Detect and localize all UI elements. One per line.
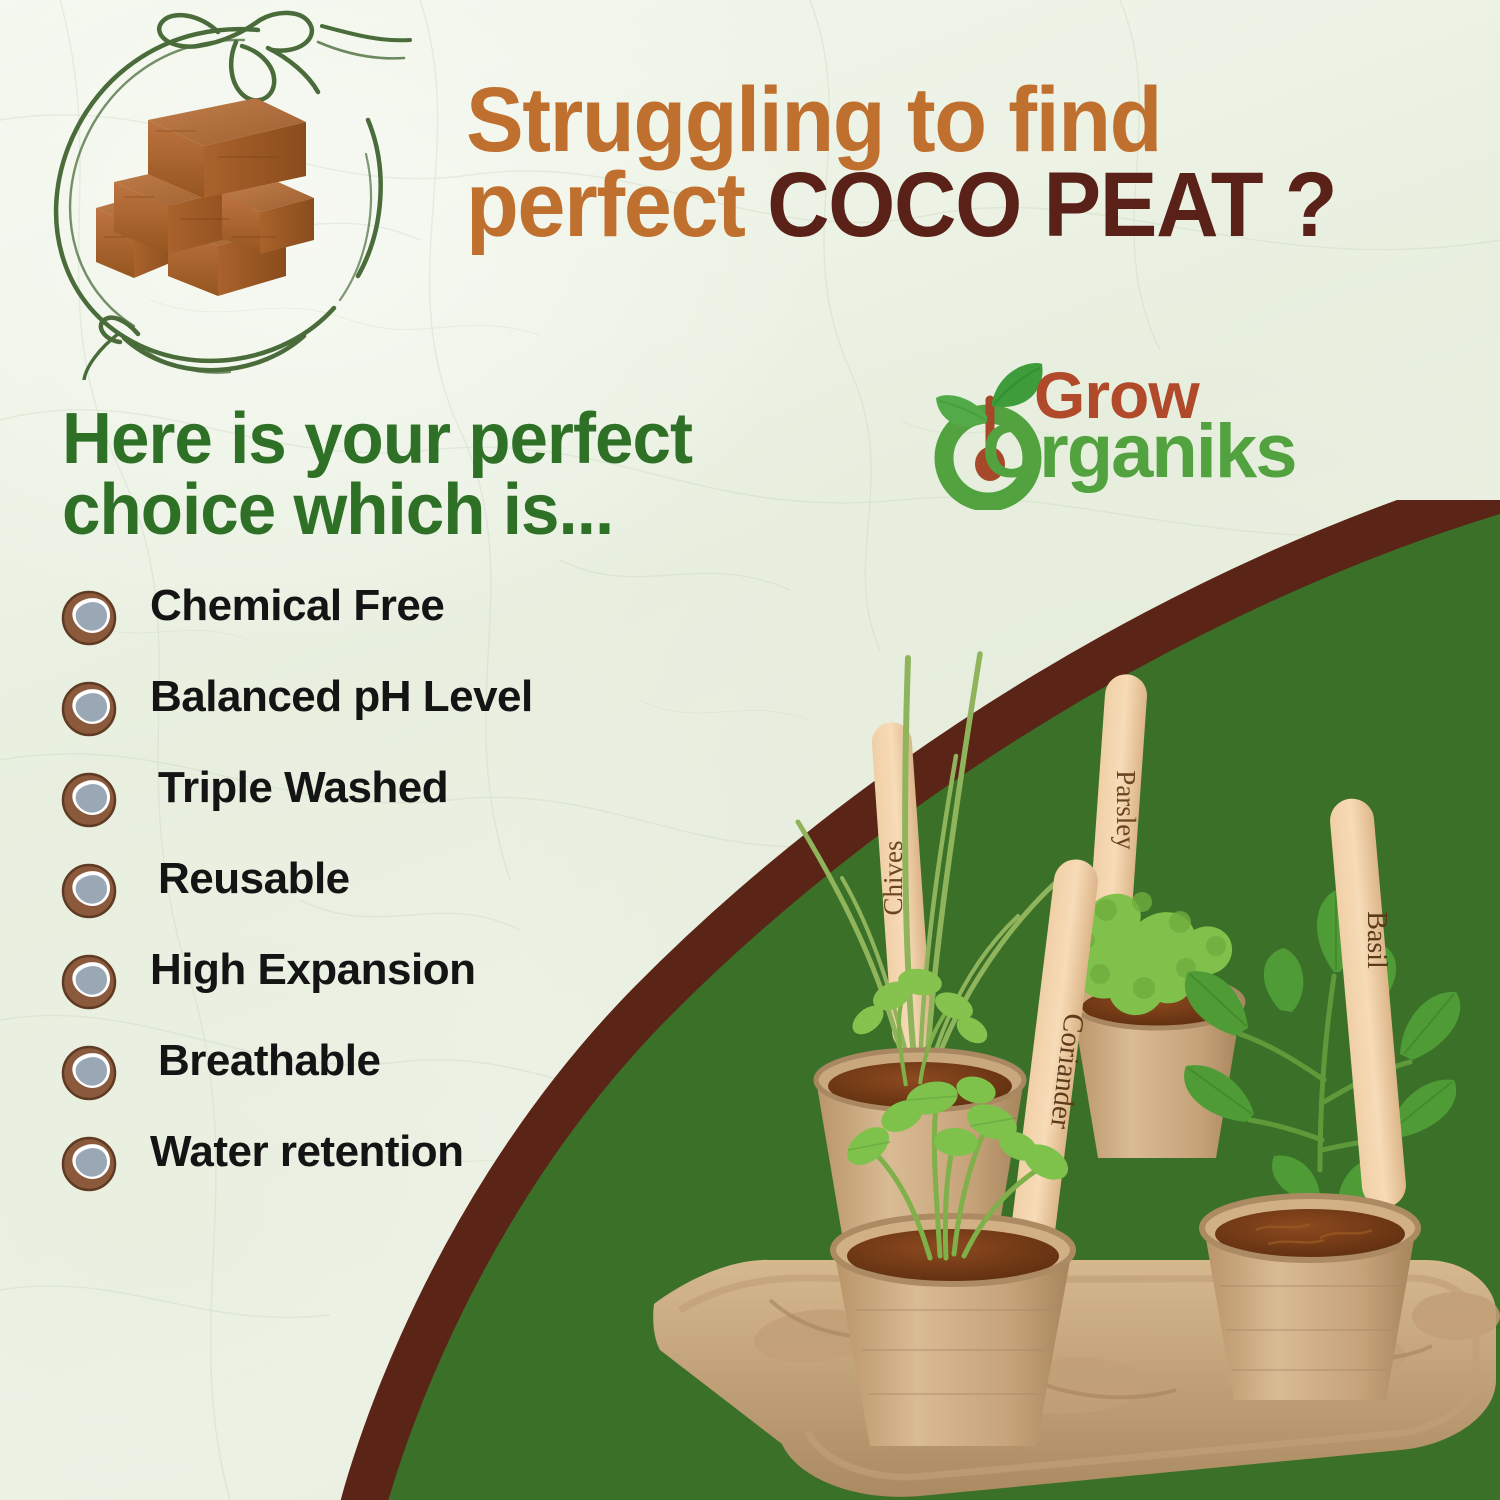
coconut-half-icon — [58, 676, 120, 738]
biodegradable-pot-tray-with-herbs: Chives Parsley — [620, 610, 1500, 1500]
list-item: Reusable — [58, 858, 658, 949]
headline-line-1: Struggling to find — [466, 78, 1415, 163]
list-item: High Expansion — [58, 949, 658, 1040]
subheading: Here is your perfect choice which is... — [62, 404, 820, 545]
page-title: Struggling to find perfect COCO PEAT ? — [466, 78, 1415, 247]
coconut-half-icon — [58, 1040, 120, 1102]
list-item-label: High Expansion — [150, 945, 475, 995]
headline-line-2-prefix: perfect — [466, 154, 767, 256]
subheading-line-1: Here is your perfect — [62, 404, 820, 475]
list-item-label: Balanced pH Level — [150, 672, 533, 722]
list-item: Balanced pH Level — [58, 676, 658, 767]
list-item-label: Breathable — [158, 1036, 380, 1086]
coconut-half-icon — [58, 949, 120, 1011]
brand-wordmark: Grow Organiks — [1034, 362, 1344, 512]
brand-logo: Grow Organiks — [930, 358, 1340, 518]
coco-peat-brick-stack — [72, 86, 342, 306]
list-item-label: Reusable — [158, 854, 350, 904]
plant-label-text: Basil — [1361, 911, 1392, 969]
list-item: Chemical Free — [58, 585, 658, 676]
coconut-half-icon — [58, 585, 120, 647]
list-item: Water retention — [58, 1131, 658, 1222]
plant-label-text: Parsley — [1111, 770, 1141, 850]
chives-plant — [798, 654, 1072, 1084]
pot-basil — [1202, 1196, 1418, 1400]
list-item: Triple Washed — [58, 767, 658, 858]
list-item-label: Water retention — [150, 1127, 464, 1177]
poster-canvas: Struggling to find perfect COCO PEAT ? H… — [0, 0, 1500, 1500]
headline-line-2-emphasis: COCO PEAT ? — [767, 154, 1336, 256]
list-item-label: Triple Washed — [158, 763, 448, 813]
list-item-label: Chemical Free — [150, 581, 444, 631]
brand-word-organiks: Organiks — [982, 414, 1295, 490]
coconut-half-icon — [58, 767, 120, 829]
coconut-half-icon — [58, 858, 120, 920]
subheading-line-2: choice which is... — [62, 475, 820, 546]
list-item: Breathable — [58, 1040, 658, 1131]
feature-list: Chemical Free Balanced pH Level Triple W… — [58, 585, 658, 1222]
headline-line-2: perfect COCO PEAT ? — [466, 163, 1415, 248]
coconut-half-icon — [58, 1131, 120, 1193]
